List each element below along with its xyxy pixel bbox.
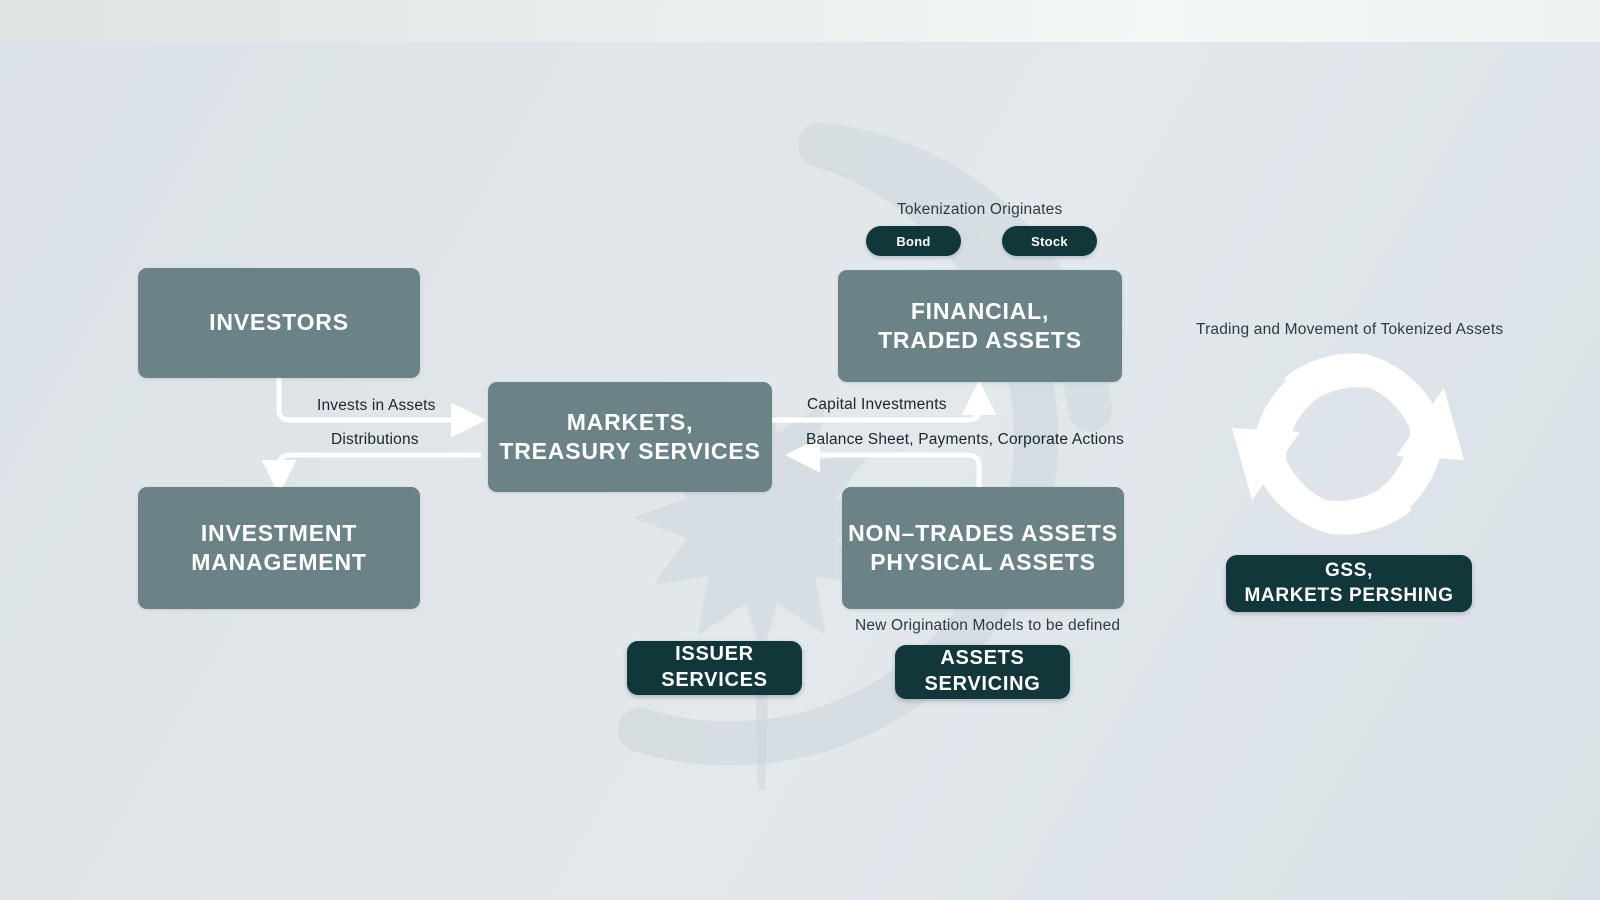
background-fill <box>0 42 1600 900</box>
node-financial-line1: FINANCIAL, <box>911 297 1049 326</box>
pill-stock[interactable]: Stock <box>1002 226 1097 256</box>
node-non-traded-line2: PHYSICAL ASSETS <box>870 548 1096 577</box>
node-markets-treasury-services[interactable]: MARKETS, TREASURY SERVICES <box>488 382 772 492</box>
node-gss-markets-pershing[interactable]: GSS, MARKETS PERSHING <box>1226 555 1472 612</box>
node-assets-servicing-line1: ASSETS <box>940 646 1024 672</box>
flow-label-capital-investments: Capital Investments <box>807 396 947 414</box>
node-investment-management[interactable]: INVESTMENT MANAGEMENT <box>138 487 420 609</box>
node-investors-label: INVESTORS <box>209 308 349 337</box>
flow-label-invests-in-assets: Invests in Assets <box>317 397 436 415</box>
node-issuer-services-line1: ISSUER <box>675 642 754 668</box>
node-assets-servicing[interactable]: ASSETS SERVICING <box>895 645 1070 699</box>
node-investment-management-line1: INVESTMENT <box>201 519 357 548</box>
pill-stock-label: Stock <box>1031 234 1068 249</box>
node-markets-line2: TREASURY SERVICES <box>499 437 760 466</box>
node-gss-line1: GSS, <box>1325 559 1373 583</box>
diagram-canvas: INVESTORS INVESTMENT MANAGEMENT MARKETS,… <box>0 0 1600 900</box>
node-issuer-services[interactable]: ISSUER SERVICES <box>627 641 802 695</box>
node-markets-line1: MARKETS, <box>567 408 694 437</box>
pill-bond[interactable]: Bond <box>866 226 961 256</box>
node-investors[interactable]: INVESTORS <box>138 268 420 378</box>
node-non-traded-line1: NON–TRADES ASSETS <box>848 519 1118 548</box>
node-gss-line2: MARKETS PERSHING <box>1244 584 1453 608</box>
flow-label-balance-sheet: Balance Sheet, Payments, Corporate Actio… <box>806 431 1124 449</box>
node-investment-management-line2: MANAGEMENT <box>191 548 366 577</box>
node-issuer-services-line2: SERVICES <box>661 668 767 694</box>
flow-label-distributions: Distributions <box>331 431 419 449</box>
caption-trading-movement: Trading and Movement of Tokenized Assets <box>1196 321 1503 339</box>
caption-tokenization-originates: Tokenization Originates <box>897 201 1062 219</box>
pill-bond-label: Bond <box>896 234 930 249</box>
node-non-traded-physical-assets[interactable]: NON–TRADES ASSETS PHYSICAL ASSETS <box>842 487 1124 609</box>
node-assets-servicing-line2: SERVICING <box>925 672 1041 698</box>
caption-new-origination-models: New Origination Models to be defined <box>855 617 1120 635</box>
node-financial-line2: TRADED ASSETS <box>878 326 1082 355</box>
background-top-band <box>0 0 1600 42</box>
node-financial-traded-assets[interactable]: FINANCIAL, TRADED ASSETS <box>838 270 1122 382</box>
